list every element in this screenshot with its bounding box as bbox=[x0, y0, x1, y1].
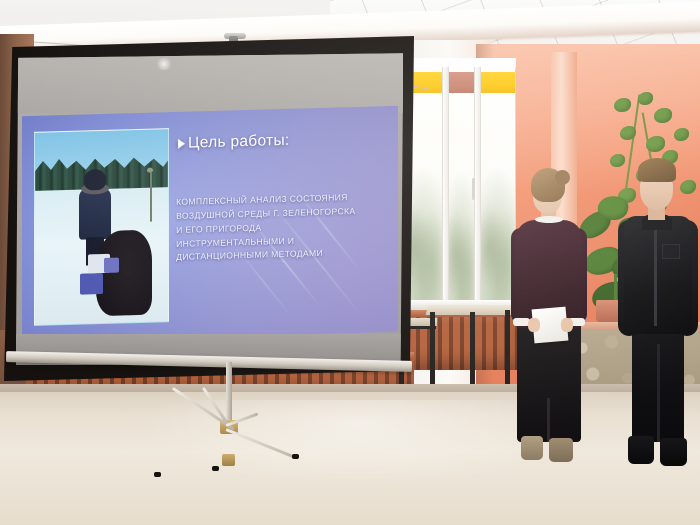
window-mullion bbox=[442, 64, 449, 310]
man-boot bbox=[660, 438, 687, 466]
presenter-woman bbox=[503, 168, 595, 468]
tripod-lower-hub bbox=[222, 454, 235, 466]
vine-leaf bbox=[614, 98, 631, 112]
woman-boot bbox=[521, 436, 543, 460]
photo-equipment-bag bbox=[104, 257, 119, 273]
slide-title: Цель работы: bbox=[178, 131, 290, 152]
tripod-center-pole bbox=[226, 362, 232, 428]
screen-unlit-top bbox=[16, 53, 403, 112]
vine-leaf bbox=[646, 136, 665, 152]
classroom-presentation-scene: Цель работы: КОМПЛЕКСНЫЙ АНАЛИЗ СОСТОЯНИ… bbox=[0, 0, 700, 525]
screen-surface: Цель работы: КОМПЛЕКСНЫЙ АНАЛИЗ СОСТОЯНИ… bbox=[16, 53, 403, 365]
window-handle[interactable] bbox=[472, 178, 475, 200]
woman-hand bbox=[561, 318, 573, 332]
window-mullion bbox=[474, 64, 481, 310]
woman-skirt-fold bbox=[547, 398, 550, 442]
woman-boot bbox=[549, 438, 573, 462]
desk-leg bbox=[470, 312, 475, 388]
woman-hair-bun bbox=[555, 170, 570, 185]
tripod-foot bbox=[292, 454, 299, 459]
vine-leaf bbox=[638, 92, 653, 105]
slide-body-text: КОМПЛЕКСНЫЙ АНАЛИЗ СОСТОЯНИЯ ВОЗДУШНОЙ С… bbox=[176, 190, 390, 266]
photo-hood bbox=[84, 169, 106, 191]
man-jacket-placket bbox=[654, 222, 657, 326]
presentation-slide: Цель работы: КОМПЛЕКСНЫЙ АНАЛИЗ СОСТОЯНИ… bbox=[22, 106, 398, 343]
photo-marker-pole bbox=[149, 172, 151, 222]
desk-leg bbox=[430, 312, 435, 386]
triangle-bullet-icon bbox=[178, 138, 185, 148]
photo-equipment-bag bbox=[80, 273, 103, 295]
screen-dust-spot bbox=[155, 58, 173, 70]
blind-cap bbox=[479, 67, 515, 72]
slide-title-text: Цель работы: bbox=[188, 131, 290, 151]
window-glass bbox=[447, 67, 475, 315]
tripod-leg bbox=[225, 428, 297, 459]
photo-parka bbox=[79, 190, 111, 239]
tripod-stand[interactable] bbox=[150, 362, 310, 482]
blind-cap bbox=[447, 67, 475, 72]
vine-leaf bbox=[674, 128, 689, 141]
man-jacket-pocket bbox=[662, 244, 680, 259]
woman-hand bbox=[528, 318, 540, 332]
man-jacket bbox=[624, 216, 692, 334]
slide-embedded-photo bbox=[34, 128, 169, 326]
man-jeans-seam bbox=[657, 344, 660, 442]
man-boot bbox=[628, 436, 654, 464]
presenter-man bbox=[614, 158, 700, 476]
woman-collar bbox=[535, 216, 563, 223]
projection-screen[interactable]: Цель работы: КОМПЛЕКСНЫЙ АНАЛИЗ СОСТОЯНИ… bbox=[4, 36, 414, 381]
tripod-foot bbox=[154, 472, 161, 477]
tripod-foot bbox=[212, 466, 219, 471]
man-hair bbox=[638, 158, 676, 182]
vine-leaf bbox=[654, 108, 672, 123]
